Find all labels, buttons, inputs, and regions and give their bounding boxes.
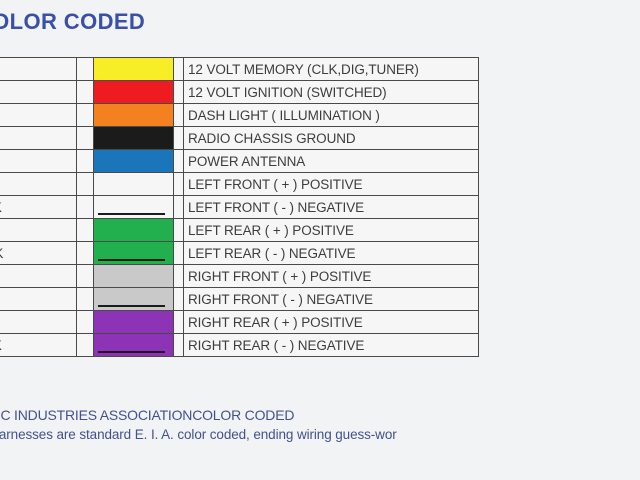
color-swatch-cell — [94, 242, 174, 265]
color-swatch — [94, 58, 173, 80]
spacer-cell — [77, 265, 94, 288]
function-description-cell: LEFT REAR ( - ) NEGATIVE — [184, 242, 479, 265]
function-description-cell: LEFT FRONT ( - ) NEGATIVE — [184, 196, 479, 219]
spacer-cell-2 — [174, 173, 184, 196]
wire-color-name-cell: CK — [0, 127, 77, 150]
color-swatch-cell — [94, 104, 174, 127]
function-description-cell: DASH LIGHT ( ILLUMINATION ) — [184, 104, 479, 127]
black-stripe-marker — [98, 213, 165, 215]
page-root: .A. COLOR CODED OW12 VOLT MEMORY (CLK,DI… — [0, 0, 640, 480]
wire-color-name-cell: TE — [0, 173, 77, 196]
table-row: 12 VOLT IGNITION (SWITCHED) — [0, 81, 479, 104]
table-row: YRIGHT FRONT ( + ) POSITIVE — [0, 265, 479, 288]
spacer-cell-2 — [174, 219, 184, 242]
spacer-cell-2 — [174, 104, 184, 127]
color-swatch — [94, 81, 173, 103]
wire-color-name-cell: Y/BLACK — [0, 288, 77, 311]
wire-color-name-cell: Y — [0, 265, 77, 288]
wire-color-name-cell: TE/BLACK — [0, 196, 77, 219]
color-swatch-cell — [94, 265, 174, 288]
page-title: .A. COLOR CODED — [0, 8, 440, 36]
spacer-cell — [77, 81, 94, 104]
table-row: Y/BLACKRIGHT FRONT ( - ) NEGATIVE — [0, 288, 479, 311]
color-swatch-cell — [94, 173, 174, 196]
spacer-cell-2 — [174, 58, 184, 81]
spacer-cell-2 — [174, 196, 184, 219]
spacer-cell — [77, 288, 94, 311]
footer-text-block: CTRONIC INDUSTRIES ASSOCIATIONCOLOR CODE… — [0, 406, 640, 444]
footer-line-2: ur wire harnesses are standard E. I. A. … — [0, 425, 640, 444]
function-description-cell: POWER ANTENNA — [184, 150, 479, 173]
function-description-cell: RIGHT REAR ( - ) NEGATIVE — [184, 334, 479, 357]
spacer-cell-2 — [174, 265, 184, 288]
wire-color-name-cell: NGE — [0, 104, 77, 127]
spacer-cell — [77, 219, 94, 242]
spacer-cell — [77, 196, 94, 219]
function-description-cell: RIGHT FRONT ( + ) POSITIVE — [184, 265, 479, 288]
spacer-cell — [77, 311, 94, 334]
color-swatch-cell — [94, 288, 174, 311]
color-swatch-cell — [94, 334, 174, 357]
color-swatch — [94, 265, 173, 287]
wire-color-name-cell — [0, 81, 77, 104]
spacer-cell — [77, 58, 94, 81]
footer-line-1: CTRONIC INDUSTRIES ASSOCIATIONCOLOR CODE… — [0, 406, 640, 425]
spacer-cell-2 — [174, 127, 184, 150]
wire-color-name-cell: EN — [0, 219, 77, 242]
table-row: NGEDASH LIGHT ( ILLUMINATION ) — [0, 104, 479, 127]
table-row: EN/BLACKLEFT REAR ( - ) NEGATIVE — [0, 242, 479, 265]
black-stripe-marker — [98, 259, 165, 261]
table-row: ETRIGHT REAR ( + ) POSITIVE — [0, 311, 479, 334]
color-swatch — [94, 219, 173, 241]
wire-color-table: OW12 VOLT MEMORY (CLK,DIG,TUNER)12 VOLT … — [0, 57, 479, 357]
table-row: CKRADIO CHASSIS GROUND — [0, 127, 479, 150]
function-description-cell: 12 VOLT IGNITION (SWITCHED) — [184, 81, 479, 104]
spacer-cell — [77, 127, 94, 150]
spacer-cell — [77, 173, 94, 196]
table-row: ET/BLACKRIGHT REAR ( - ) NEGATIVE — [0, 334, 479, 357]
wire-color-name-cell: OW — [0, 58, 77, 81]
table-row: TELEFT FRONT ( + ) POSITIVE — [0, 173, 479, 196]
function-description-cell: LEFT FRONT ( + ) POSITIVE — [184, 173, 479, 196]
color-swatch-cell — [94, 196, 174, 219]
table-row: TE/BLACKLEFT FRONT ( - ) NEGATIVE — [0, 196, 479, 219]
black-stripe-marker — [98, 351, 165, 353]
color-swatch-cell — [94, 127, 174, 150]
spacer-cell-2 — [174, 311, 184, 334]
wire-color-name-cell: ET — [0, 311, 77, 334]
table-row: EPOWER ANTENNA — [0, 150, 479, 173]
spacer-cell-2 — [174, 288, 184, 311]
function-description-cell: RIGHT REAR ( + ) POSITIVE — [184, 311, 479, 334]
function-description-cell: RADIO CHASSIS GROUND — [184, 127, 479, 150]
color-swatch-cell — [94, 311, 174, 334]
color-swatch — [94, 150, 173, 172]
color-swatch — [94, 311, 173, 333]
spacer-cell — [77, 150, 94, 173]
wire-color-name-cell: EN/BLACK — [0, 242, 77, 265]
wire-color-name-cell: ET/BLACK — [0, 334, 77, 357]
spacer-cell — [77, 334, 94, 357]
color-swatch-cell — [94, 150, 174, 173]
color-swatch — [94, 173, 173, 195]
table-row: ENLEFT REAR ( + ) POSITIVE — [0, 219, 479, 242]
table-row: OW12 VOLT MEMORY (CLK,DIG,TUNER) — [0, 58, 479, 81]
spacer-cell-2 — [174, 81, 184, 104]
color-swatch-cell — [94, 58, 174, 81]
wire-color-name-cell: E — [0, 150, 77, 173]
spacer-cell-2 — [174, 242, 184, 265]
function-description-cell: LEFT REAR ( + ) POSITIVE — [184, 219, 479, 242]
table-body: OW12 VOLT MEMORY (CLK,DIG,TUNER)12 VOLT … — [0, 58, 479, 357]
spacer-cell — [77, 242, 94, 265]
color-swatch-cell — [94, 81, 174, 104]
spacer-cell — [77, 104, 94, 127]
function-description-cell: 12 VOLT MEMORY (CLK,DIG,TUNER) — [184, 58, 479, 81]
color-swatch — [94, 127, 173, 149]
spacer-cell-2 — [174, 150, 184, 173]
spacer-cell-2 — [174, 334, 184, 357]
black-stripe-marker — [98, 305, 165, 307]
color-swatch — [94, 104, 173, 126]
function-description-cell: RIGHT FRONT ( - ) NEGATIVE — [184, 288, 479, 311]
color-swatch-cell — [94, 219, 174, 242]
